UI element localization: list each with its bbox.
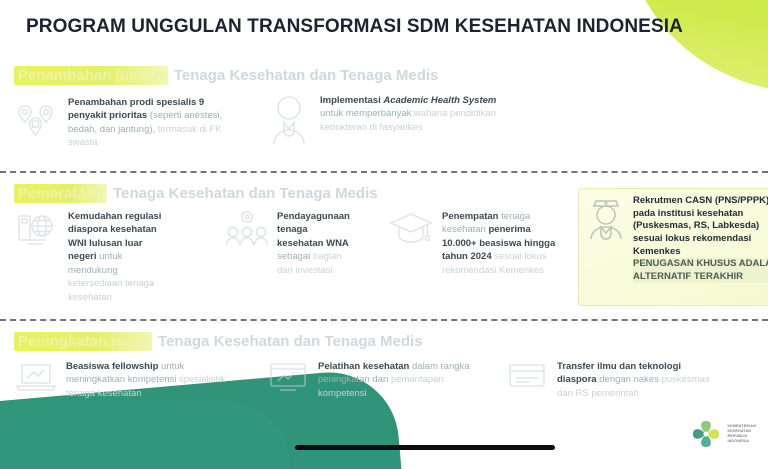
graduation-cap-icon xyxy=(388,210,434,255)
block-2-2-bold: Pendayagunaan tenaga kesehatan WNA xyxy=(277,211,350,249)
presentation-board-icon xyxy=(266,360,310,399)
block-2-2-text: Pendayagunaan tenaga kesehatan WNA sebag… xyxy=(277,210,350,277)
block-3-1-text: Beasiswa fellowship untuk meningkatkan k… xyxy=(66,360,229,400)
section-2-highlight: Pemerataan xyxy=(14,184,107,203)
block-1-2: Implementasi Academic Health System untu… xyxy=(266,94,501,151)
people-group-icon xyxy=(225,210,269,257)
logo-line-3: INDONESIA xyxy=(727,439,756,444)
block-1-2-italic: Academic Health System xyxy=(383,95,496,106)
slide-canvas: PROGRAM UNGGULAN TRANSFORMASI SDM KESEHA… xyxy=(0,0,768,469)
block-2-3-bold: Penempatan xyxy=(442,211,499,222)
section-1-rest: Tenaga Kesehatan dan Tenaga Medis xyxy=(174,67,439,84)
transfer-board-icon xyxy=(505,360,549,399)
card-line-1: pada institusi kesehatan xyxy=(633,208,768,221)
location-pins-icon xyxy=(14,96,60,147)
block-3-2: Pelatihan kesehatan dalam rangka peningk… xyxy=(266,360,481,400)
block-3-2-bold: Pelatihan kesehatan xyxy=(318,361,409,372)
card-line-4: Kemenkes xyxy=(633,246,768,259)
block-3-3-text: Transfer ilmu dan teknologi diaspora den… xyxy=(557,360,720,400)
card-sub-line-1: ALTERNATIF TERAKHIR xyxy=(633,271,768,284)
block-2-3-text: Penempatan tenaga kesehatan penerima 10.… xyxy=(442,210,563,277)
card-line-3: sesuai lokus rekomendasi xyxy=(633,233,768,246)
section-3-highlight: Peningkatan mutu xyxy=(14,332,152,351)
section-header-3: Peningkatan mutu Tenaga Kesehatan dan Te… xyxy=(14,332,423,351)
laptop-icon xyxy=(14,360,58,399)
doctor-person-icon xyxy=(266,94,312,151)
decor-teal-shape-2 xyxy=(0,404,290,469)
section-header-2: Pemerataan Tenaga Kesehatan dan Tenaga M… xyxy=(14,184,378,203)
block-3-1: Beasiswa fellowship untuk meningkatkan k… xyxy=(14,360,229,400)
section-2-rest: Tenaga Kesehatan dan Tenaga Medis xyxy=(113,185,378,202)
block-3-3: Transfer ilmu dan teknologi diaspora den… xyxy=(505,360,720,400)
block-1-2-bold: Implementasi xyxy=(320,95,383,106)
highlight-card-rekrutmen: Rekrutmen CASN (PNS/PPPK) pada institusi… xyxy=(578,188,768,306)
card-sub-line-0: PENUGASAN KHUSUS ADALAH xyxy=(633,258,768,271)
card-line-2: (Puskesmas, RS, Labkesda) xyxy=(633,220,768,233)
block-3-2-text: Pelatihan kesehatan dalam rangka peningk… xyxy=(318,360,481,400)
kemenkes-logo: KEMENTERIAN KESEHATAN REPUBLIK INDONESIA xyxy=(689,417,756,451)
block-2-1-tail: ketersediaan tenaga kesehatan xyxy=(68,278,154,302)
block-2-1-text: Kemudahan regulasi diaspora kesehatan WN… xyxy=(68,210,164,304)
block-2-1: Kemudahan regulasi diaspora kesehatan WN… xyxy=(14,210,164,304)
block-3-1-bold: Beasiswa fellowship xyxy=(66,361,158,372)
section-divider-2 xyxy=(0,319,768,321)
block-2-2-mid: sebagai xyxy=(277,251,310,262)
block-1-2-text: Implementasi Academic Health System untu… xyxy=(320,94,501,134)
block-1-1: Penambahan prodi spesialis 9 penyakit pr… xyxy=(14,96,244,150)
page-title: PROGRAM UNGGULAN TRANSFORMASI SDM KESEHA… xyxy=(26,16,683,38)
section-divider-1 xyxy=(0,171,768,173)
block-2-3: Penempatan tenaga kesehatan penerima 10.… xyxy=(388,210,563,277)
block-1-2-mid: untuk memperbanyak xyxy=(320,108,411,119)
section-header-1: Penambahan jumlah Tenaga Kesehatan dan T… xyxy=(14,66,438,85)
nurse-icon xyxy=(586,195,626,299)
highlight-card-text: Rekrutmen CASN (PNS/PPPK) pada institusi… xyxy=(633,195,768,299)
section-3-rest: Tenaga Kesehatan dan Tenaga Medis xyxy=(158,333,423,350)
block-3-3-mid: dengan nakes xyxy=(597,374,659,385)
kemenkes-logo-mark-icon xyxy=(689,417,723,451)
block-1-1-text: Penambahan prodi spesialis 9 penyakit pr… xyxy=(68,96,244,150)
decor-black-bar xyxy=(295,445,555,450)
kemenkes-logo-text: KEMENTERIAN KESEHATAN REPUBLIK INDONESIA xyxy=(727,424,756,445)
card-line-0: Rekrutmen CASN (PNS/PPPK) xyxy=(633,195,768,208)
section-1-highlight: Penambahan jumlah xyxy=(14,66,168,85)
globe-building-icon xyxy=(14,210,60,259)
block-2-2: Pendayagunaan tenaga kesehatan WNA sebag… xyxy=(225,210,345,277)
